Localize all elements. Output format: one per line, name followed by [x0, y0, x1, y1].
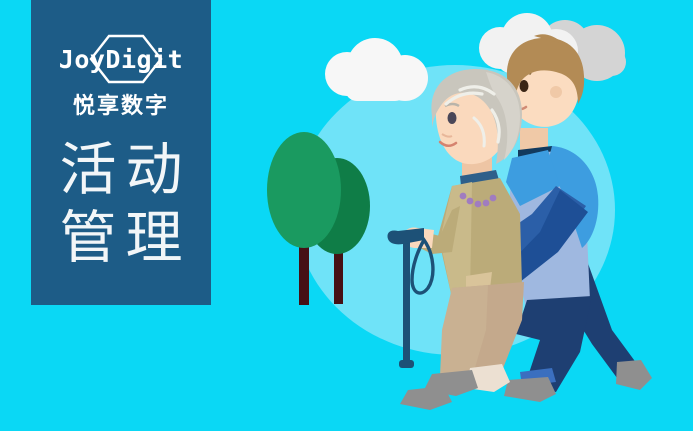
logo-wordmark: JoyDigit [59, 45, 183, 74]
page-title: 活动 管理 [31, 136, 211, 272]
logo-mark: JoyDigit [31, 30, 211, 88]
woman-eye [448, 112, 457, 124]
brand-chinese: 悦享数字 [31, 88, 211, 120]
logo: JoyDigit 悦享数字 [31, 30, 211, 126]
title-panel: JoyDigit 悦享数字 活动 管理 [31, 0, 211, 305]
title-line-1: 活动 [31, 136, 211, 204]
man-ear [550, 86, 562, 98]
title-line-2: 管理 [31, 204, 211, 272]
man-eye [520, 80, 529, 92]
poster-canvas: JoyDigit 悦享数字 活动 管理 [0, 0, 693, 431]
